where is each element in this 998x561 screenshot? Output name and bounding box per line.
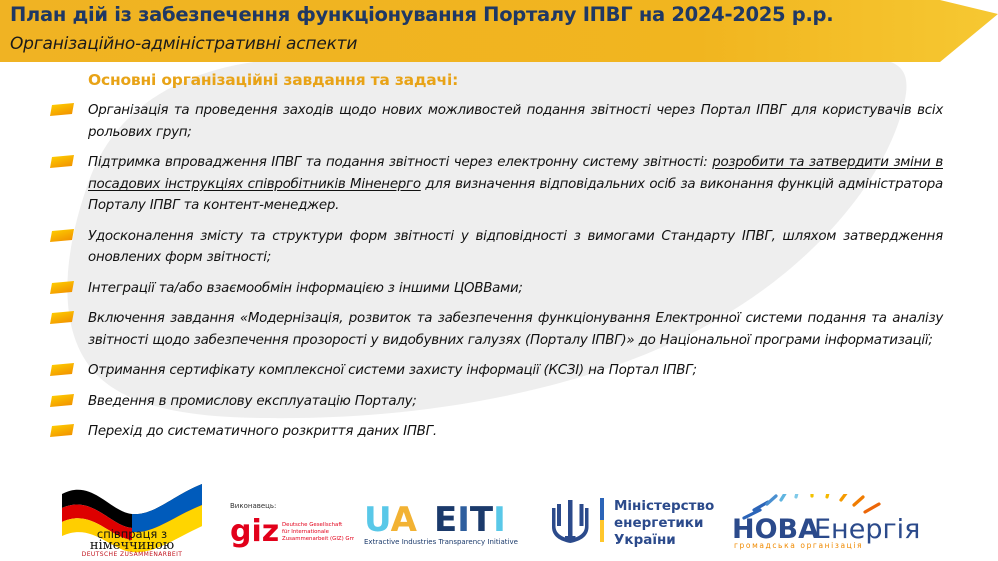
slide-root: План дій із забезпечення функціонування … <box>0 0 998 561</box>
ministry-line1: Міністерство <box>614 498 714 514</box>
flag-divider-blue <box>600 498 604 520</box>
ministry-line2: енергетики <box>614 515 703 531</box>
nova-energia-tagline: громадська організація <box>734 541 863 550</box>
german-ukrainian-cooperation-logo: співпраця з німеччиною DEUTSCHE ZUSAMMEN… <box>52 472 212 556</box>
ua-eiti-eiti: EITI <box>434 500 506 540</box>
flag-divider-yellow <box>600 520 604 542</box>
footer-logo-strip: співпраця з німеччиною DEUTSCHE ZUSAMMEN… <box>0 0 998 561</box>
ukraine-trident-icon <box>552 500 589 543</box>
ua-eiti-logo: UA EITI Extractive Industries Transparen… <box>362 497 530 549</box>
ministry-of-energy-logo: Міністерство енергетики України <box>546 492 718 550</box>
giz-descriptor-l1: Deutsche Gesellschaft <box>282 522 342 528</box>
giz-logo: Виконавець: giz Deutsche Gesellschaft fü… <box>226 497 354 549</box>
giz-wordmark: giz <box>230 514 279 549</box>
cooperation-line3: DEUTSCHE ZUSAMMENARBEIT <box>82 551 183 556</box>
giz-descriptor-l2: für Internationale <box>282 529 330 535</box>
giz-descriptor-l3: Zusammenarbeit (GIZ) GmbH <box>282 536 354 542</box>
ministry-line3: України <box>614 532 676 548</box>
nova-energia-logo: НОВА Енергія громадська організація <box>726 494 926 552</box>
ua-eiti-tagline: Extractive Industries Transparency Initi… <box>364 538 518 546</box>
giz-executor-label: Виконавець: <box>230 502 276 510</box>
ua-eiti-ua: UA <box>364 500 418 540</box>
